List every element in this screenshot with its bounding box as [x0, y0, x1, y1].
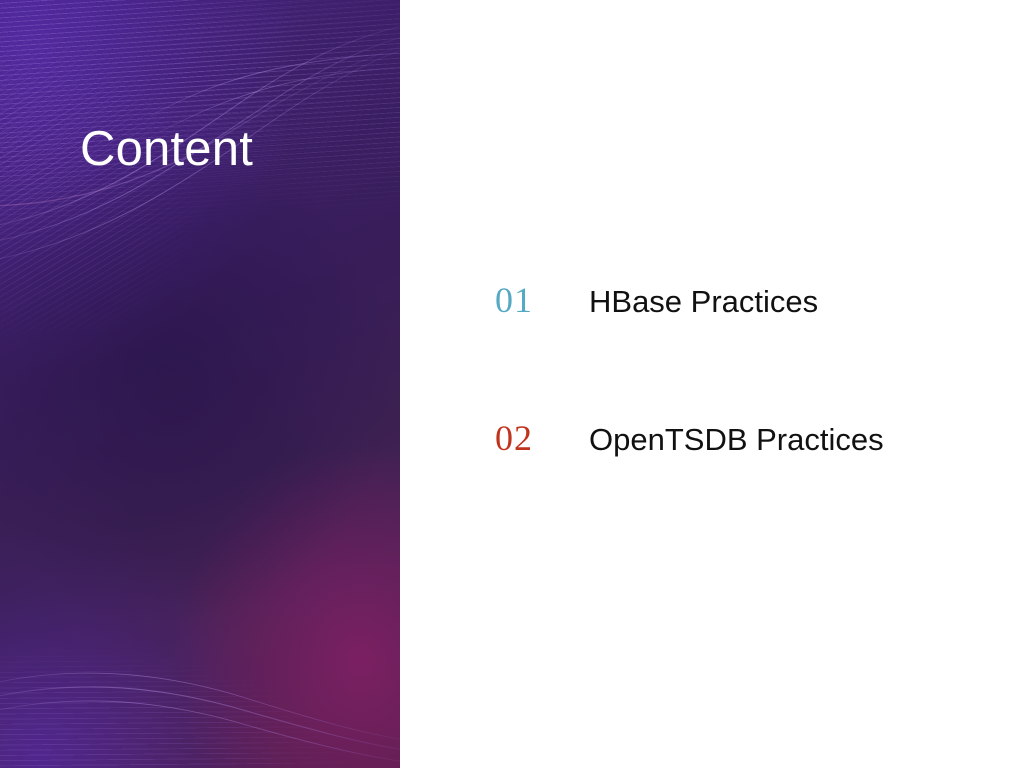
slide-title-panel: Content: [0, 0, 400, 768]
agenda-item-number: 02: [495, 420, 589, 456]
list-item[interactable]: 01 HBase Practices: [495, 282, 1015, 334]
page-title: Content: [80, 122, 253, 177]
panel-curve-lines: [0, 0, 400, 768]
list-item[interactable]: 02 OpenTSDB Practices: [495, 420, 1015, 472]
presentation-slide: Content 01 HBase Practices 02 OpenTSDB P…: [0, 0, 1024, 768]
agenda-item-label: HBase Practices: [589, 286, 1015, 317]
agenda-list: 01 HBase Practices 02 OpenTSDB Practices: [495, 282, 1015, 472]
slide-content-area: 01 HBase Practices 02 OpenTSDB Practices: [400, 0, 1024, 768]
agenda-item-label: OpenTSDB Practices: [589, 424, 1015, 455]
agenda-item-number: 01: [495, 282, 589, 318]
